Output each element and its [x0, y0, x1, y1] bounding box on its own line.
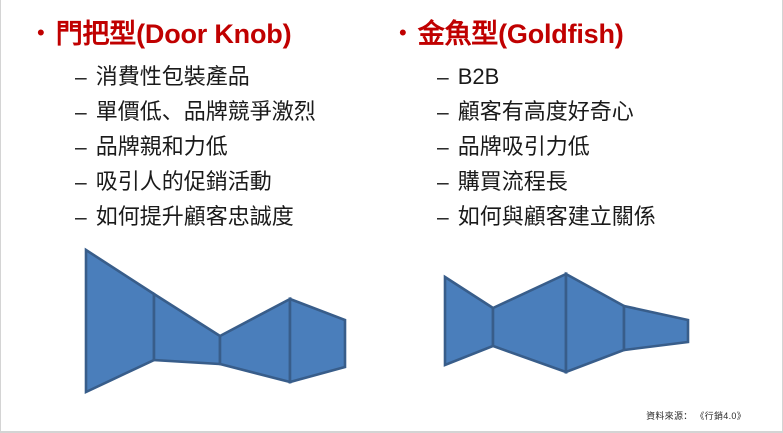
- bullet-icon: •: [37, 16, 45, 50]
- dash-icon: –: [75, 166, 87, 199]
- dash-icon: –: [75, 61, 87, 94]
- list-item-label: 如何與顧客建立關係: [458, 200, 656, 233]
- list-item: – 如何與顧客建立關係: [399, 200, 771, 235]
- funnel-segment: [624, 306, 688, 350]
- list-item-label: 品牌吸引力低: [458, 130, 590, 163]
- list-door-knob: – 消費性包裝產品 – 單價低、品牌競爭激烈 – 品牌親和力低 – 吸引人的促銷…: [37, 60, 409, 235]
- list-goldfish: – B2B – 顧客有高度好奇心 – 品牌吸引力低 – 購買流程長 – 如何與顧…: [399, 60, 771, 235]
- dash-icon: –: [75, 131, 87, 164]
- heading-goldfish: 金魚型(Goldfish): [418, 16, 624, 52]
- list-item: – B2B: [399, 60, 771, 95]
- funnel-segment: [445, 277, 493, 365]
- list-item-label: 如何提升顧客忠誠度: [96, 200, 294, 233]
- source-note: 資料來源： 《行銷4.0》: [646, 409, 746, 422]
- funnel-segment: [86, 250, 154, 392]
- funnel-segment: [220, 299, 290, 382]
- list-item: – 如何提升顧客忠誠度: [37, 200, 409, 235]
- dash-icon: –: [437, 131, 449, 164]
- list-item: – 品牌親和力低: [37, 130, 409, 165]
- heading-row-door-knob: • 門把型(Door Knob): [37, 16, 409, 58]
- column-goldfish: • 金魚型(Goldfish) – B2B – 顧客有高度好奇心 – 品牌吸引力…: [399, 16, 771, 235]
- list-item-label: 顧客有高度好奇心: [458, 95, 634, 128]
- list-item-label: 單價低、品牌競爭激烈: [96, 95, 316, 128]
- dash-icon: –: [437, 96, 449, 129]
- funnel-segment: [566, 274, 624, 372]
- list-item-label: 消費性包裝產品: [96, 60, 250, 93]
- list-item: – 購買流程長: [399, 165, 771, 200]
- list-item-label: B2B: [458, 60, 500, 93]
- list-item-label: 吸引人的促銷活動: [96, 165, 272, 198]
- list-item: – 顧客有高度好奇心: [399, 95, 771, 130]
- list-item-label: 品牌親和力低: [96, 130, 228, 163]
- funnel-segment: [154, 294, 220, 364]
- list-item-label: 購買流程長: [458, 165, 568, 198]
- goldfish-funnel: [435, 268, 705, 388]
- list-item: – 品牌吸引力低: [399, 130, 771, 165]
- list-item: – 消費性包裝產品: [37, 60, 409, 95]
- bullet-icon: •: [399, 16, 407, 50]
- list-item: – 吸引人的促銷活動: [37, 165, 409, 200]
- door-knob-funnel: [77, 242, 357, 402]
- column-door-knob: • 門把型(Door Knob) – 消費性包裝產品 – 單價低、品牌競爭激烈 …: [37, 16, 409, 235]
- dash-icon: –: [75, 201, 87, 234]
- heading-row-goldfish: • 金魚型(Goldfish): [399, 16, 771, 58]
- dash-icon: –: [437, 201, 449, 234]
- heading-door-knob: 門把型(Door Knob): [56, 16, 292, 52]
- dash-icon: –: [75, 96, 87, 129]
- funnel-segment: [493, 274, 566, 372]
- dash-icon: –: [437, 61, 449, 94]
- dash-icon: –: [437, 166, 449, 199]
- slide-canvas: • 門把型(Door Knob) – 消費性包裝產品 – 單價低、品牌競爭激烈 …: [0, 0, 783, 433]
- funnel-segment: [290, 299, 345, 382]
- list-item: – 單價低、品牌競爭激烈: [37, 95, 409, 130]
